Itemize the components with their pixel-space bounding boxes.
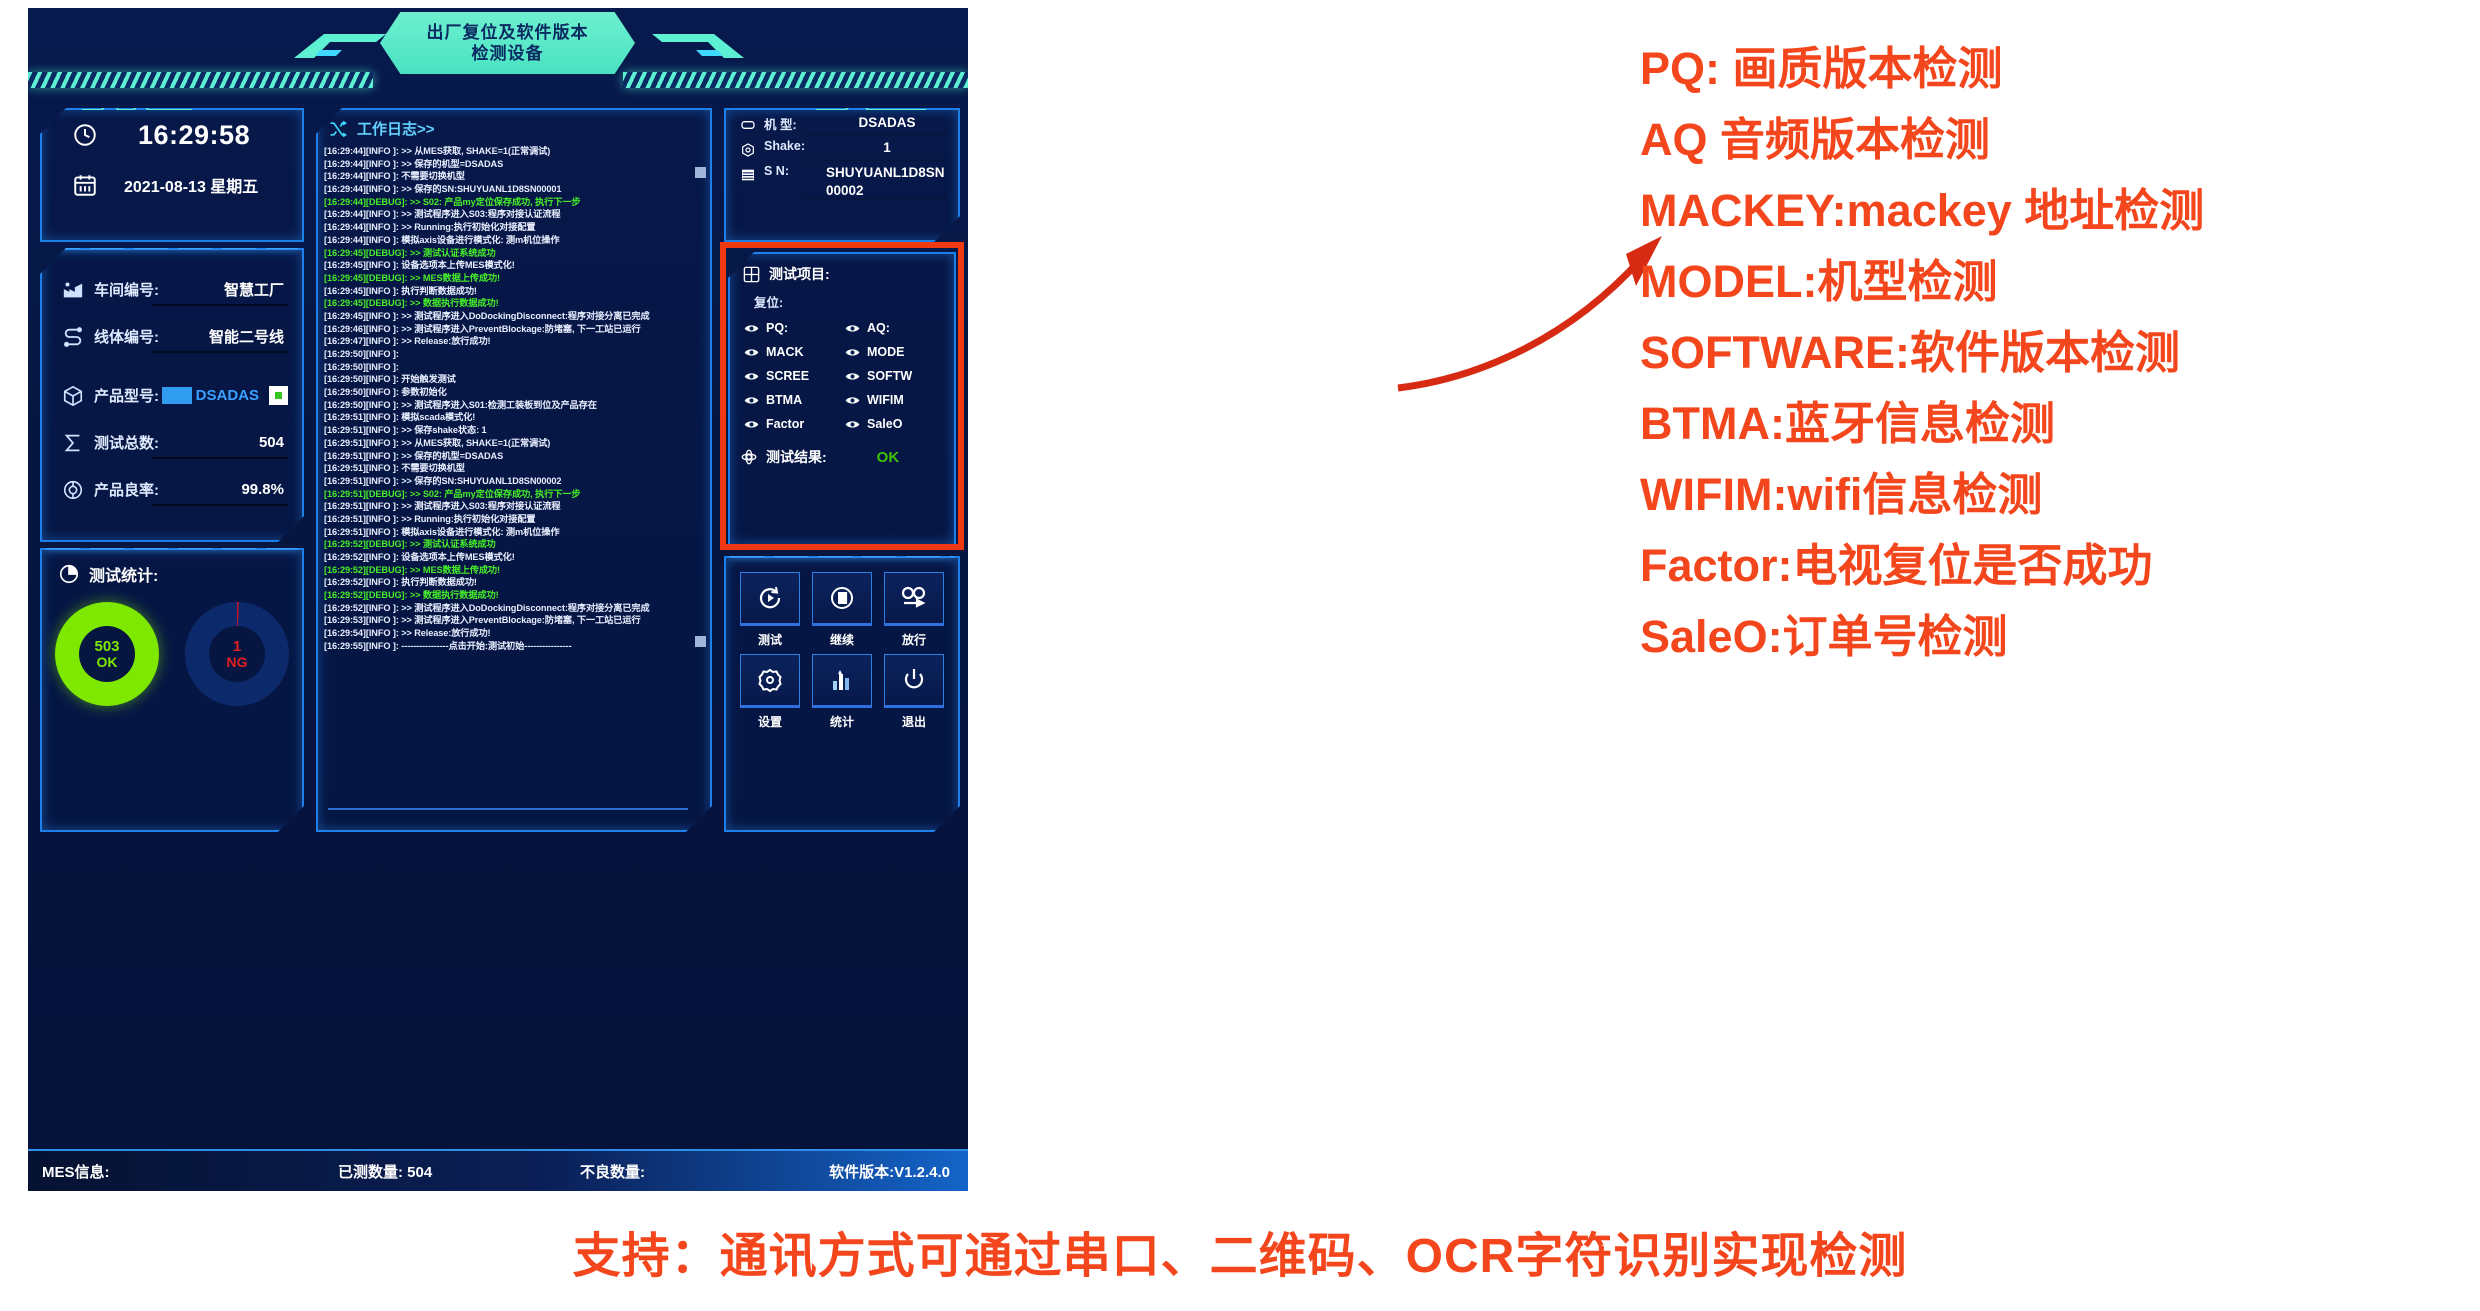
log-line: [16:29:51][INFO ]: >> 保存的SN:SHUYUANL1D8S… [324,475,696,488]
log-line: [16:29:44][INFO ]: >> 测试程序进入S03:程序对接认证流程 [324,208,696,221]
sigma-icon [60,430,86,456]
donut-ng: 1 NG [185,602,289,706]
ok-status: OK [97,655,118,670]
status-tested: 已测数量: 504 [338,1161,432,1182]
log-line: [16:29:50][INFO ]: >> 测试程序进入S01:检测工装板到位及… [324,399,696,412]
pie-clock-icon [58,563,80,585]
model-combobox[interactable]: DSADAS [162,386,288,405]
ok-count: 503 [94,639,119,655]
log-line: [16:29:51][INFO ]: 不需要切换机型 [324,462,696,475]
log-line: [16:29:51][INFO ]: 模拟scada模式化! [324,411,696,424]
log-line: [16:29:45][DEBUG]: >> MES数据上传成功! [324,272,696,285]
machine-row-icon [738,140,758,160]
action-button-label: 继续 [830,631,854,648]
machine-rows: 机 型:DSADASShake:1S N:SHUYUANL1D8SN00002 [726,110,958,199]
total-label: 测试总数: [94,432,159,453]
log-line: [16:29:44][INFO ]: >> 保存的机型=DSADAS [324,158,696,171]
log-line: [16:29:50][INFO ]: [324,361,696,374]
target-icon [60,477,86,503]
log-line: [16:29:45][INFO ]: 设备选项本上传MES模式化! [324,259,696,272]
log-line: [16:29:45][DEBUG]: >> 数据执行数据成功! [324,297,696,310]
action-button-放行[interactable]: 放行 [878,572,950,648]
annotation-line: BTMA:蓝牙信息检测 [1640,401,2460,446]
action-button-icon-box[interactable] [740,654,800,708]
log-line: [16:29:52][INFO ]: >> 测试程序进入DoDockingDis… [324,602,696,615]
annotation-line: Factor:电视复位是否成功 [1640,543,2460,588]
yield-label: 产品良率: [94,479,159,500]
highlight-annotation-box [720,242,964,550]
action-button-label: 测试 [758,631,782,648]
log-line: [16:29:51][INFO ]: >> 测试程序进入S03:程序对接认证流程 [324,500,696,513]
log-line: [16:29:52][DEBUG]: >> MES数据上传成功! [324,564,696,577]
machine-info-row: S N:SHUYUANL1D8SN00002 [726,160,958,199]
donut-ok-center: 503 OK [79,626,135,682]
stats-donuts: 503 OK 1 NG [42,602,302,706]
bottom-caption: 支持：通讯方式可通过串口、二维码、OCR字符识别实现检测 [0,1216,2480,1286]
log-line: [16:29:51][DEBUG]: >> S02: 产品my定位保存成功, 执… [324,488,696,501]
stats-divider [46,546,298,549]
status-bad: 不良数量: [580,1161,645,1182]
chevron-down-icon [275,392,282,399]
machine-row-icon [738,115,758,135]
action-button-label: 放行 [902,631,926,648]
action-button-icon-box[interactable] [812,654,872,708]
line-icon [60,324,86,350]
action-button-icon-box[interactable] [884,654,944,708]
log-list[interactable]: [16:29:44][INFO ]: >> 从MES获取, SHAKE=1(正常… [318,143,710,653]
machine-row-label: 机 型: [764,114,822,133]
hatch-decor-right [623,72,968,88]
log-line: [16:29:51][INFO ]: >> 从MES获取, SHAKE=1(正常… [324,437,696,450]
log-line: [16:29:51][INFO ]: 模拟axis设备进行模式化: 测m机位操作 [324,526,696,539]
go-icon [900,584,928,612]
annotation-line: MACKEY:mackey 地址检测 [1640,188,2460,233]
action-buttons-panel: 测试继续放行设置统计退出 [724,556,960,832]
log-line: [16:29:52][DEBUG]: >> 数据执行数据成功! [324,589,696,602]
log-line: [16:29:45][INFO ]: 执行判断数据成功! [324,285,696,298]
yield-value: 99.8% [241,481,288,498]
log-line: [16:29:45][INFO ]: >> 测试程序进入DoDockingDis… [324,310,696,323]
log-line: [16:29:50][INFO ]: 开始触发测试 [324,373,696,386]
log-line: [16:29:54][INFO ]: >> Release:放行成功! [324,627,696,640]
factory-icon [60,277,86,303]
machine-info-row: 机 型:DSADAS [726,110,958,135]
clock-panel: 16:29:58 2021-08-13 星期五 [40,108,304,242]
gear-icon [756,666,784,694]
action-button-统计[interactable]: 统计 [806,654,878,730]
action-button-继续[interactable]: 继续 [806,572,878,648]
clock-date-row: 2021-08-13 星期五 [42,160,302,210]
log-scroll-down-button[interactable] [695,636,706,647]
title-banner: 出厂复位及软件版本 检测设备 [28,8,968,108]
annotation-line: WIFIM:wifi信息检测 [1640,472,2460,517]
stats-title: 测试统计: [89,562,158,586]
status-bar: MES信息: 已测数量: 504 不良数量: 软件版本:V1.2.4.0 [28,1149,968,1191]
donut-ng-center: 1 NG [209,626,265,682]
workshop-row: 车间编号: 智慧工厂 [42,266,302,313]
machine-row-label: Shake: [764,139,822,153]
line-underline [152,351,288,353]
wing-decor-right [628,28,748,62]
model-row[interactable]: 产品型号: DSADAS [42,372,302,419]
action-button-grid: 测试继续放行设置统计退出 [726,558,958,730]
power-icon [900,666,928,694]
log-header: 工作日志>> [318,110,710,143]
total-value: 504 [259,434,288,451]
yield-underline [152,504,288,506]
annotation-arrow [1390,228,1670,398]
machine-row-icon [738,165,758,185]
log-line: [16:29:50][INFO ]: 参数初始化 [324,386,696,399]
log-line: [16:29:44][INFO ]: >> 保存的SN:SHUYUANL1D8S… [324,183,696,196]
production-info-panel: 车间编号: 智慧工厂 线体编号: 智能二号线 产品型号: DSADAS [40,248,304,542]
machine-row-value: 1 [826,139,948,157]
log-footer-line [328,808,688,810]
log-line: [16:29:52][INFO ]: 执行判断数据成功! [324,576,696,589]
app-title: 出厂复位及软件版本 检测设备 [380,12,635,74]
line-row: 线体编号: 智能二号线 [42,313,302,360]
action-button-icon-box[interactable] [884,572,944,626]
action-button-label: 统计 [830,713,854,730]
total-row: 测试总数: 504 [42,419,302,466]
annotation-line: SaleO:订单号检测 [1640,614,2460,659]
calendar-icon [68,168,102,202]
log-line: [16:29:44][DEBUG]: >> S02: 产品my定位保存成功, 执… [324,196,696,209]
line-label: 线体编号: [94,326,159,347]
model-dropdown-button[interactable] [269,386,288,405]
app-title-line2: 检测设备 [472,43,544,64]
annotation-line: SOFTWARE:软件版本检测 [1640,330,2460,375]
test-statistics-panel: 测试统计: 503 OK 1 NG [40,548,304,832]
status-mes: MES信息: [42,1161,110,1182]
log-line: [16:29:52][INFO ]: 设备选项本上传MES模式化! [324,551,696,564]
log-line: [16:29:44][INFO ]: >> Running:执行初始化对接配置 [324,221,696,234]
ng-status: NG [227,655,248,670]
action-button-设置[interactable]: 设置 [734,654,806,730]
annotation-line: MODEL:机型检测 [1640,259,2460,304]
workshop-underline [152,304,288,306]
chart-icon [828,666,856,694]
log-line: [16:29:46][INFO ]: >> 测试程序进入PreventBlock… [324,323,696,336]
log-line: [16:29:47][INFO ]: >> Release:放行成功! [324,335,696,348]
annotation-list: PQ: 画质版本检测AQ 音频版本检测MACKEY:mackey 地址检测MOD… [1640,46,2460,685]
refresh-icon [756,584,784,612]
workshop-value: 智慧工厂 [224,279,288,300]
box-icon [60,383,86,409]
log-title: 工作日志>> [357,118,435,139]
action-button-icon-box[interactable] [812,572,872,626]
log-line: [16:29:51][INFO ]: >> Running:执行初始化对接配置 [324,513,696,526]
log-line: [16:29:45][DEBUG]: >> 测试认证系统成功 [324,247,696,260]
log-line: [16:29:51][INFO ]: >> 保存shake状态: 1 [324,424,696,437]
shuffle-icon [328,119,348,139]
action-button-测试[interactable]: 测试 [734,572,806,648]
workshop-label: 车间编号: [94,279,159,300]
log-line: [16:29:44][INFO ]: >> 从MES获取, SHAKE=1(正常… [324,145,696,158]
action-button-label: 退出 [902,713,926,730]
clock-date-value: 2021-08-13 星期五 [124,173,258,197]
machine-info-row: Shake:1 [726,135,958,160]
annotation-line: PQ: 画质版本检测 [1640,46,2460,91]
log-scroll-up-button[interactable] [695,167,706,178]
line-value: 智能二号线 [209,326,288,347]
app-title-line1: 出厂复位及软件版本 [427,22,589,43]
work-log-panel: 工作日志>> [16:29:44][INFO ]: >> 从MES获取, SHA… [316,108,712,832]
buttons-divider [730,554,954,557]
log-line: [16:29:55][INFO ]: ----------------点击开始:… [324,640,696,653]
bottom-caption-text: 支持：通讯方式可通过串口、二维码、OCR字符识别实现检测 [573,1230,1908,1283]
clock-time-row: 16:29:58 [42,110,302,160]
log-line: [16:29:50][INFO ]: [324,348,696,361]
total-underline [152,457,288,459]
clock-time-value: 16:29:58 [138,120,250,151]
application-window: 出厂复位及软件版本 检测设备 16:29:58 2021-08-13 星期五 [28,8,968,1191]
annotation-line: AQ 音频版本检测 [1640,117,2460,162]
machine-row-underline [802,198,948,200]
model-color-swatch [162,387,192,404]
action-button-icon-box[interactable] [740,572,800,626]
log-line: [16:29:53][INFO ]: >> 测试程序进入PreventBlock… [324,614,696,627]
machine-row-value: DSADAS [826,114,948,132]
log-line: [16:29:51][INFO ]: >> 保存的机型=DSADAS [324,450,696,463]
donut-ok: 503 OK [55,602,159,706]
pause-icon [828,584,856,612]
panel-divider [46,246,298,249]
hatch-decor-left [28,72,373,88]
action-button-退出[interactable]: 退出 [878,654,950,730]
stats-header: 测试统计: [42,550,302,586]
model-value: DSADAS [196,387,259,404]
yield-row: 产品良率: 99.8% [42,466,302,513]
model-label: 产品型号: [94,385,159,406]
ng-count: 1 [233,639,241,655]
action-button-label: 设置 [758,713,782,730]
log-line: [16:29:44][INFO ]: 模拟axis设备进行模式化: 测m机位操作 [324,234,696,247]
log-line: [16:29:52][DEBUG]: >> 测试认证系统成功 [324,538,696,551]
machine-row-label: S N: [764,164,822,178]
machine-info-panel: 机 型:DSADASShake:1S N:SHUYUANL1D8SN00002 [724,108,960,242]
status-version: 软件版本:V1.2.4.0 [829,1161,950,1182]
clock-icon [68,118,102,152]
log-line: [16:29:44][INFO ]: 不需要切换机型 [324,170,696,183]
machine-row-value: SHUYUANL1D8SN00002 [826,164,948,199]
